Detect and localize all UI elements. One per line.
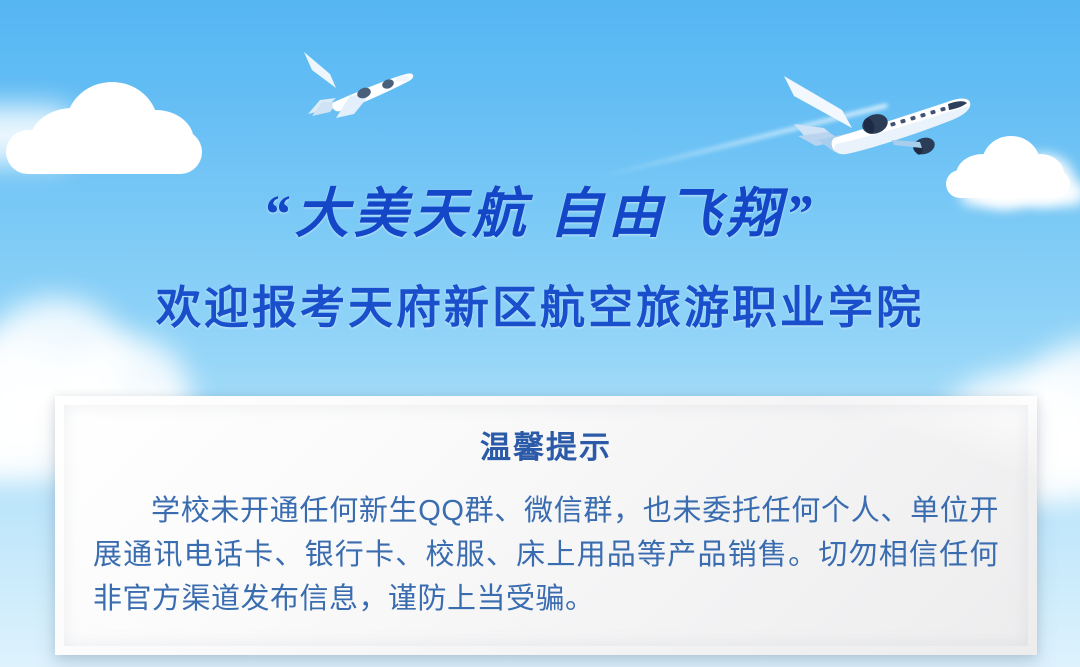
notice-card: 温馨提示 学校未开通任何新生QQ群、微信群，也未委托任何个人、单位开展通讯电话卡… [55,396,1037,655]
contrail-icon [596,103,888,179]
notice-body-text: 学校未开通任何新生QQ群、微信群，也未委托任何个人、单位开展通讯电话卡、银行卡、… [93,489,999,621]
notice-title: 温馨提示 [93,422,999,467]
subheadline-block: 欢迎报考天府新区航空旅游职业学院 [0,284,1080,334]
notice-card-content: 温馨提示 学校未开通任何新生QQ群、微信群，也未委托任何个人、单位开展通讯电话卡… [55,396,1037,621]
poster-headline: “大美天航 自由飞翔” [0,186,1080,243]
poster-subheadline: 欢迎报考天府新区航空旅游职业学院 [0,284,1080,334]
headline-block: “大美天航 自由飞翔” [0,186,1080,243]
cloud-icon-top-left-edge [0,96,90,166]
airplane-icon-small [296,44,428,132]
poster-root: “大美天航 自由飞翔” 欢迎报考天府新区航空旅游职业学院 温馨提示 学校未开通任… [0,0,1080,667]
cloud-icon-upper-left [6,64,210,176]
airplane-icon-large [772,66,1000,182]
